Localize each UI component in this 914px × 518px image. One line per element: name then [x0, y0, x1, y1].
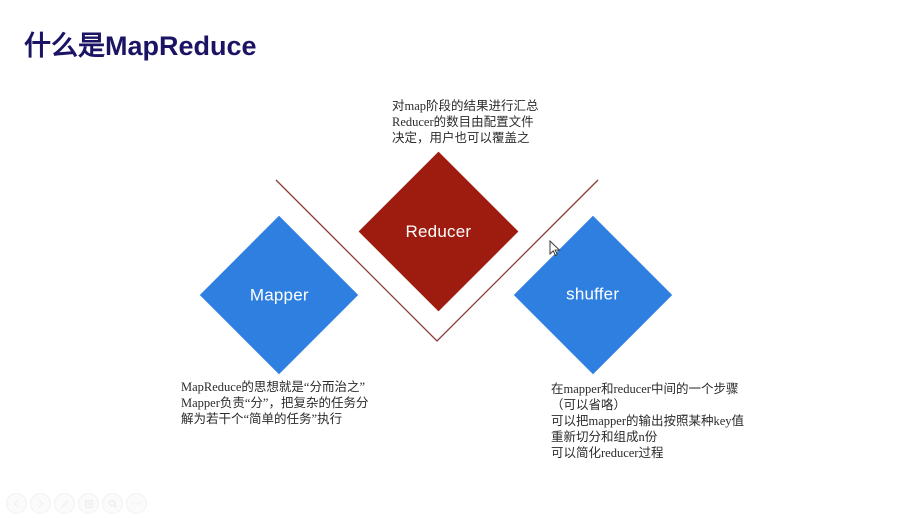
presentation-slide: 什么是MapReduce Mapper Reducer shuffer 对map…	[0, 0, 914, 518]
more-options-button[interactable]	[126, 493, 147, 514]
next-arrow-icon	[36, 499, 45, 508]
ellipsis-icon	[131, 499, 142, 508]
magnifier-icon	[108, 499, 118, 509]
pen-annotate-button[interactable]	[54, 493, 75, 514]
grid-icon	[84, 499, 94, 509]
cursor-arrow-path	[550, 241, 560, 255]
note-shuffer: 在mapper和reducer中间的一个步骤 （可以省咯） 可以把mapper的…	[551, 381, 811, 461]
shape-reducer[interactable]: Reducer	[359, 152, 519, 312]
previous-slide-button[interactable]	[6, 493, 27, 514]
shape-mapper[interactable]: Mapper	[200, 216, 358, 374]
zoom-in-button[interactable]	[102, 493, 123, 514]
note-mapper: MapReduce的思想就是“分而治之” Mapper负责“分”，把复杂的任务分…	[181, 379, 431, 427]
mouse-cursor	[549, 240, 561, 258]
page-title: 什么是MapReduce	[24, 24, 257, 63]
next-slide-button[interactable]	[30, 493, 51, 514]
shape-reducer-label: Reducer	[406, 221, 472, 241]
slide-overview-button[interactable]	[78, 493, 99, 514]
note-reducer: 对map阶段的结果进行汇总 Reducer的数目由配置文件 决定，用户也可以覆盖…	[392, 98, 592, 146]
shape-shuffer-label: shuffer	[566, 285, 619, 305]
slideshow-toolbar[interactable]	[6, 493, 147, 514]
previous-arrow-icon	[12, 499, 21, 508]
shape-mapper-label: Mapper	[250, 285, 309, 305]
shape-shuffer[interactable]: shuffer	[514, 216, 672, 374]
pen-icon	[60, 499, 70, 509]
